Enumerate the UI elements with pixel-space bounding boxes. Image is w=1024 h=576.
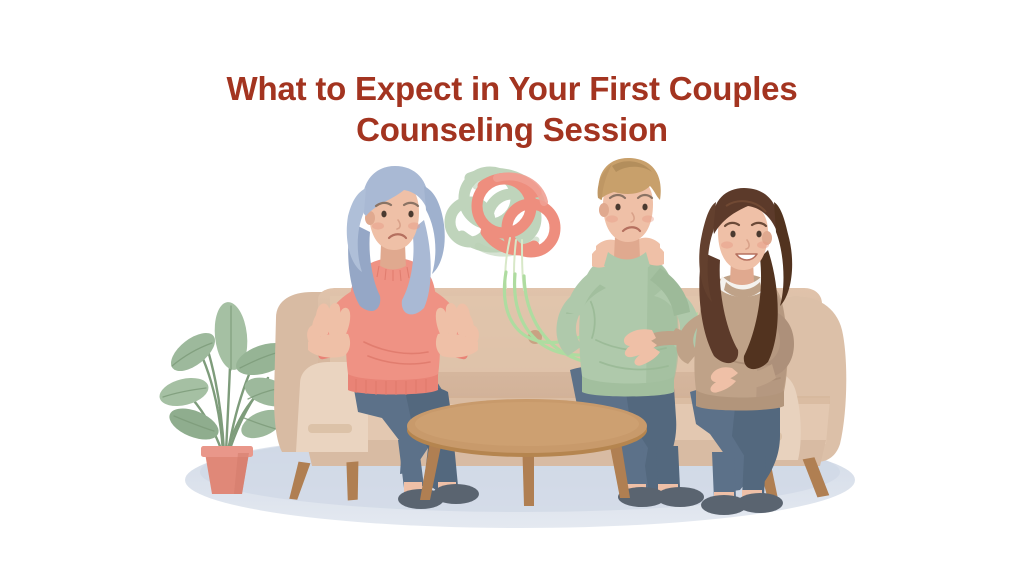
- tangled-knot-symbol: [450, 172, 555, 290]
- page-canvas: What to Expect in Your First Couples Cou…: [0, 0, 1024, 576]
- couples-counseling-illustration: [0, 0, 1024, 576]
